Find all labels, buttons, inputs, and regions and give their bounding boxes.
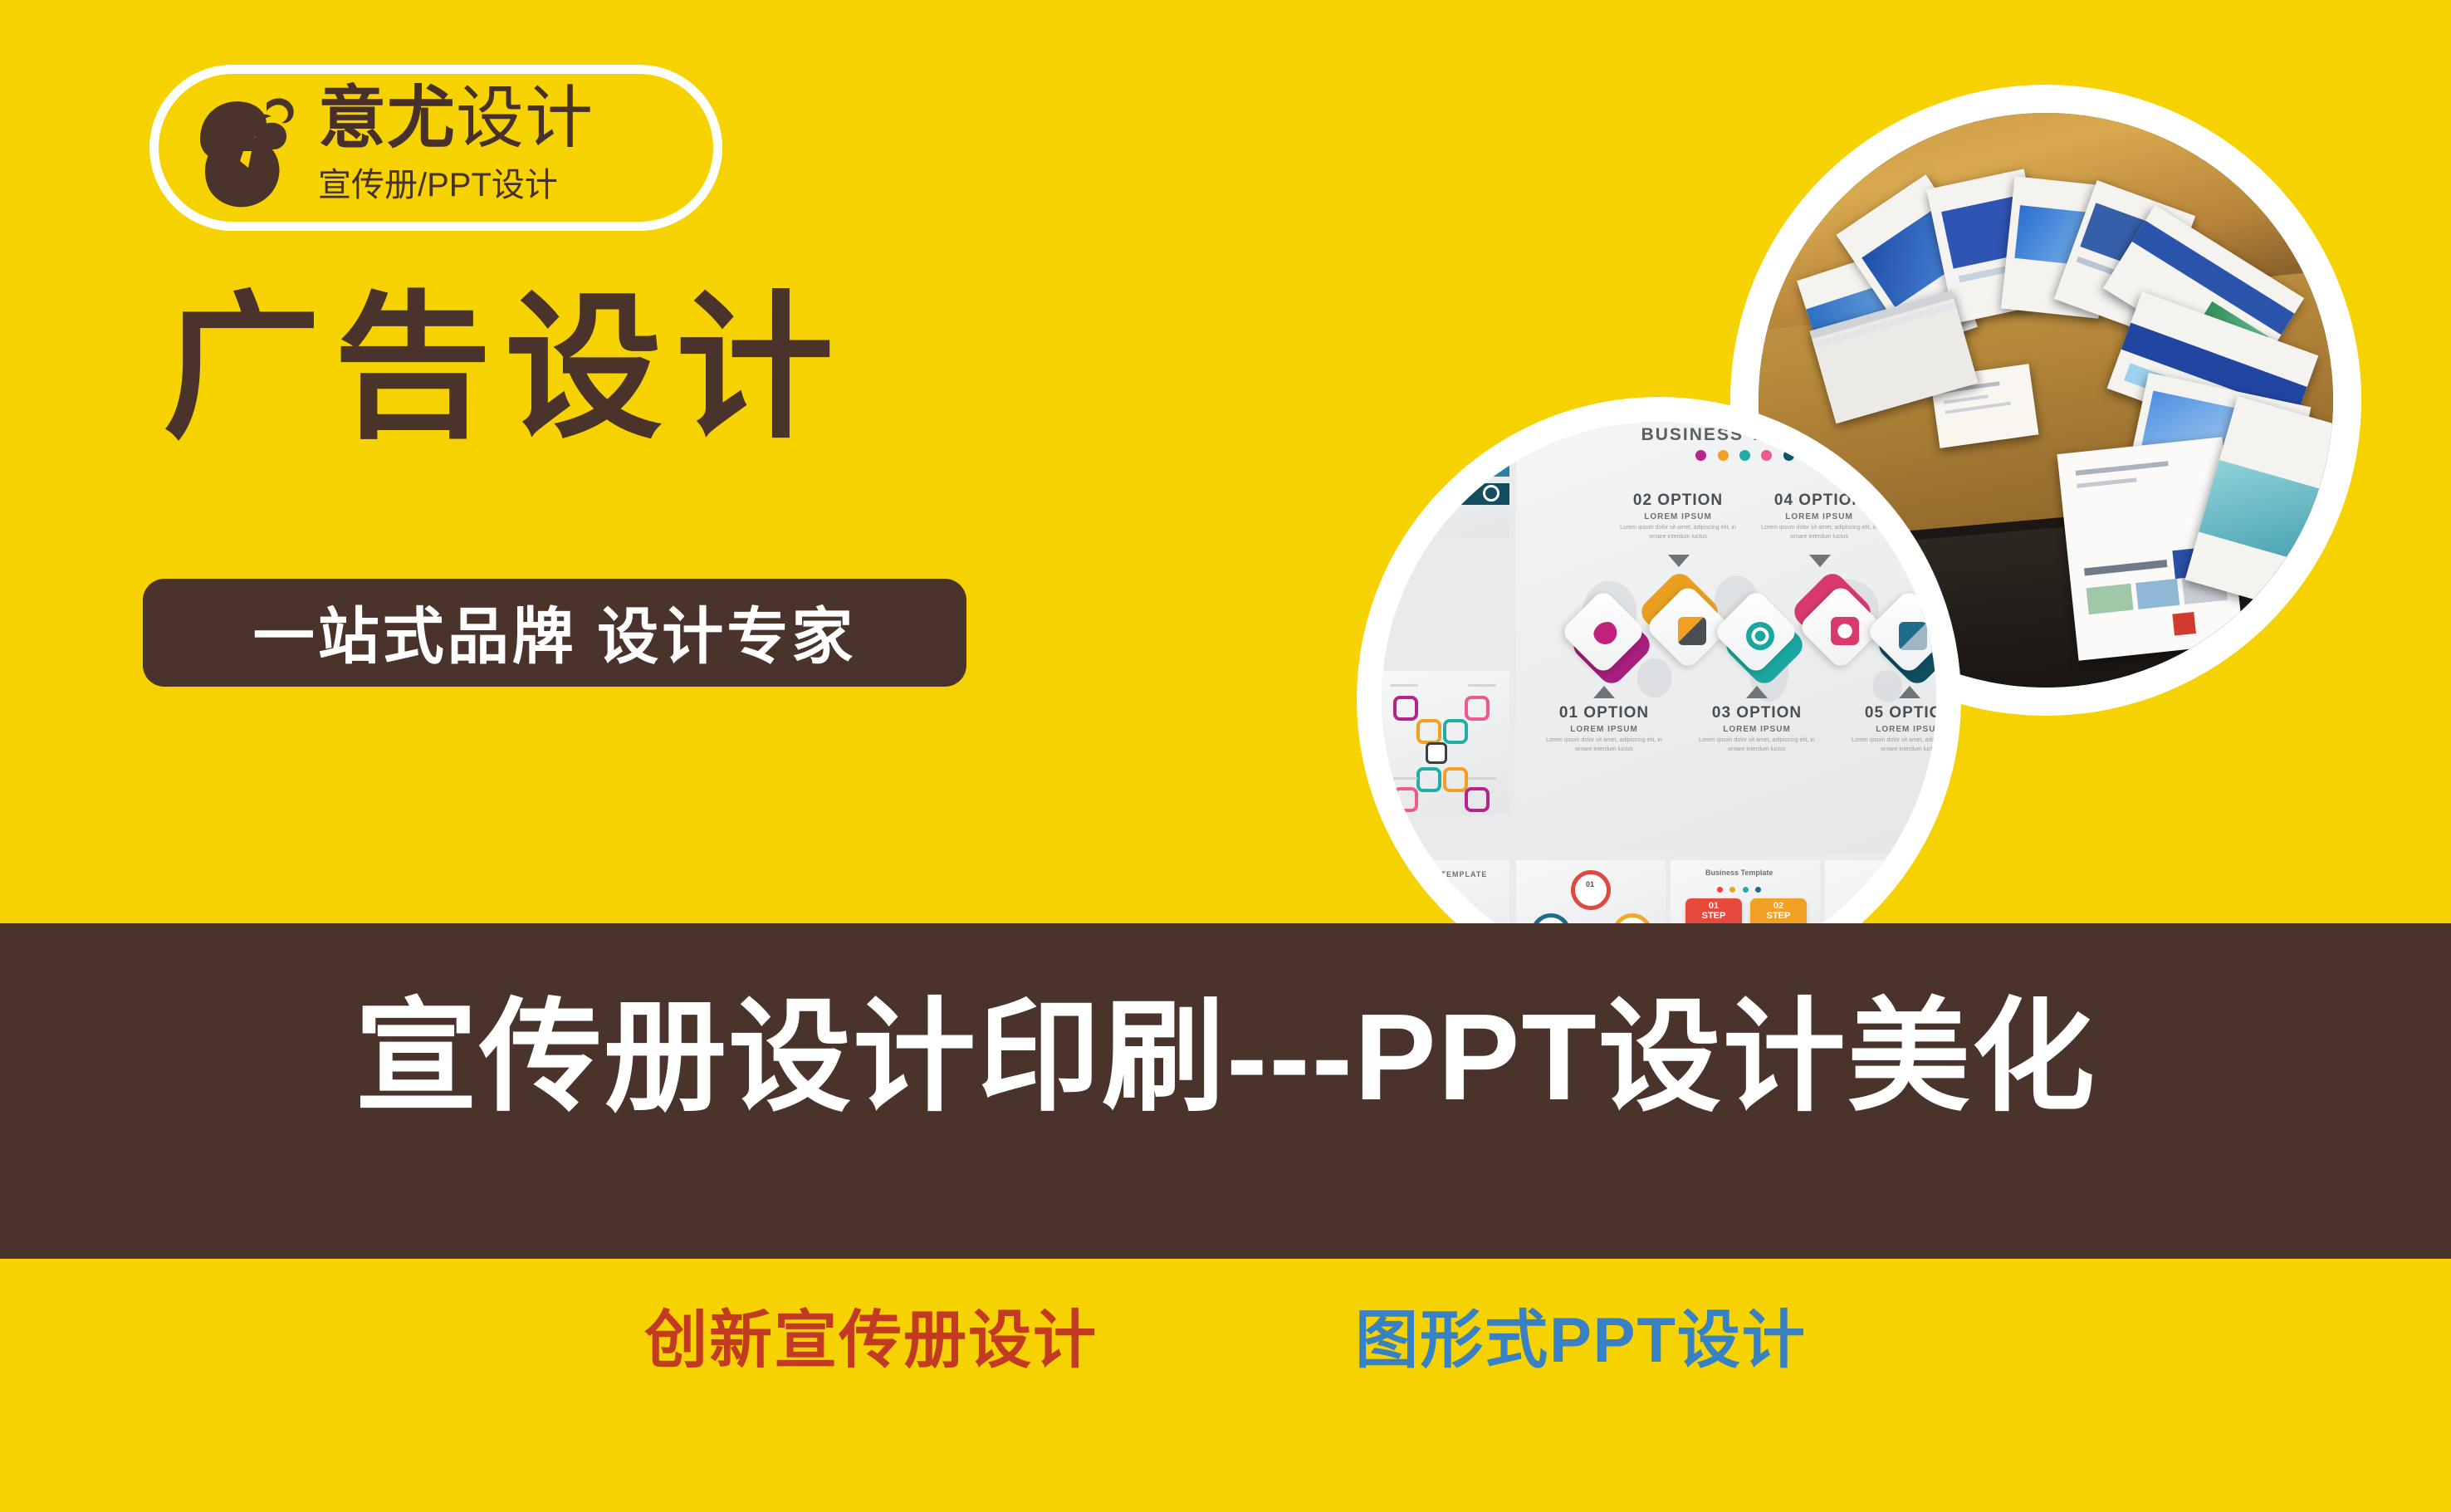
ppt-template-collage: Business Template 01 02 03 04 B bbox=[1382, 422, 1936, 976]
cross-cell bbox=[1393, 696, 1418, 721]
option-body: Lorem ipsum dolor sit amet, adipiscing e… bbox=[1847, 736, 1936, 754]
cross-cell bbox=[1443, 767, 1468, 792]
page-title: 广告设计 bbox=[163, 286, 847, 453]
option-number: 05 OPTION bbox=[1847, 704, 1936, 722]
logo-name: 意尤设计 bbox=[318, 86, 594, 152]
target-icon bbox=[1483, 485, 1499, 502]
cross-cell bbox=[1443, 719, 1468, 744]
palette-dots bbox=[1516, 450, 1936, 465]
ppt-ribbon-slide bbox=[1382, 422, 1509, 538]
footer-item-ppt: 图形式PPT设计 bbox=[1355, 1289, 1807, 1380]
cycle-node-01 bbox=[1571, 870, 1611, 910]
cycle-node-number: 01 bbox=[1586, 880, 1594, 888]
ppt-cross-slide bbox=[1382, 671, 1509, 815]
option-body: Lorem ipsum dolor sit amet, adipiscing e… bbox=[1757, 524, 1881, 541]
option-label-05: 05 OPTION LOREM IPSUM Lorem ipsum dolor … bbox=[1847, 704, 1936, 754]
advertising-design-poster: 意尤设计 宣传册/PPT设计 广告设计 一站式品牌 设计专家 bbox=[0, 0, 2451, 1512]
option-body: Lorem ipsum dolor sit amet, adipiscing e… bbox=[1695, 736, 1819, 754]
option-number: 03 OPTION bbox=[1695, 704, 1819, 722]
subtitle-pill: 一站式品牌 设计专家 bbox=[143, 579, 966, 687]
logo-name-secondary: 设计 bbox=[456, 81, 594, 156]
footer-item-brochure: 创新宣传册设计 bbox=[644, 1289, 1098, 1380]
option-label: LOREM IPSUM bbox=[1542, 725, 1666, 734]
option-label-01: 01 OPTION LOREM IPSUM Lorem ipsum dolor … bbox=[1542, 704, 1666, 754]
ppt-main-slide: BUSINESS TEMPLATE 02 OPTION LOREM IPSUM … bbox=[1516, 422, 1936, 854]
target-icon bbox=[1746, 622, 1774, 650]
brand-logo-badge: 意尤设计 宣传册/PPT设计 bbox=[149, 65, 722, 231]
option-label-02: 02 OPTION LOREM IPSUM Lorem ipsum dolor … bbox=[1616, 492, 1740, 541]
option-label: LOREM IPSUM bbox=[1695, 725, 1819, 734]
alarm-clock-icon bbox=[1831, 617, 1859, 645]
rocket-icon bbox=[1678, 617, 1706, 645]
option-label: LOREM IPSUM bbox=[1616, 512, 1740, 521]
banner-headline: 宣传册设计印刷---PPT设计美化 bbox=[0, 957, 2451, 1135]
step-head: 01STEP bbox=[1685, 898, 1742, 927]
footer-row: 创新宣传册设计 图形式PPT设计 bbox=[0, 1289, 2451, 1380]
option-number: 01 OPTION bbox=[1542, 704, 1666, 722]
step-number: 02 bbox=[1773, 901, 1783, 911]
logo-subtitle: 宣传册/PPT设计 bbox=[318, 158, 594, 206]
main-slide-title: BUSINESS TEMPLATE bbox=[1516, 425, 1936, 445]
teamwork-icon bbox=[1899, 622, 1927, 650]
cross-center bbox=[1426, 742, 1447, 764]
ribbon-row bbox=[1392, 427, 1509, 448]
option-number: 02 OPTION bbox=[1616, 492, 1740, 510]
cross-cell bbox=[1465, 787, 1490, 812]
step-label: STEP bbox=[1767, 911, 1791, 921]
subtitle-text: 一站式品牌 设计专家 bbox=[253, 587, 857, 679]
magnifier-icon bbox=[1593, 622, 1622, 650]
step-label: STEP bbox=[1702, 911, 1726, 921]
ppt-template-circle: Business Template 01 02 03 04 B bbox=[1357, 397, 1961, 1001]
cross-cell bbox=[1416, 767, 1441, 792]
logo-name-primary: 意尤 bbox=[318, 81, 456, 156]
home-icon bbox=[1483, 457, 1499, 473]
cross-cell bbox=[1416, 719, 1441, 744]
cross-cell bbox=[1465, 696, 1490, 721]
cross-cell bbox=[1393, 787, 1418, 812]
option-body: Lorem ipsum dolor sit amet, adipiscing e… bbox=[1616, 524, 1740, 541]
step-number: 01 bbox=[1709, 901, 1719, 911]
step-slide-title: Business Template bbox=[1705, 869, 1773, 877]
option-number: 04 OPTION bbox=[1757, 492, 1881, 510]
option-label-04: 04 OPTION LOREM IPSUM Lorem ipsum dolor … bbox=[1757, 492, 1881, 541]
option-body: Lorem ipsum dolor sit amet, adipiscing e… bbox=[1542, 736, 1666, 754]
option-label-03: 03 OPTION LOREM IPSUM Lorem ipsum dolor … bbox=[1695, 704, 1819, 754]
step-head: 02STEP bbox=[1750, 898, 1807, 927]
seed-sprout-mascot-icon bbox=[180, 81, 305, 214]
option-label: LOREM IPSUM bbox=[1847, 725, 1936, 734]
logo-text-block: 意尤设计 宣传册/PPT设计 bbox=[318, 86, 594, 210]
option-label: LOREM IPSUM bbox=[1757, 512, 1881, 521]
